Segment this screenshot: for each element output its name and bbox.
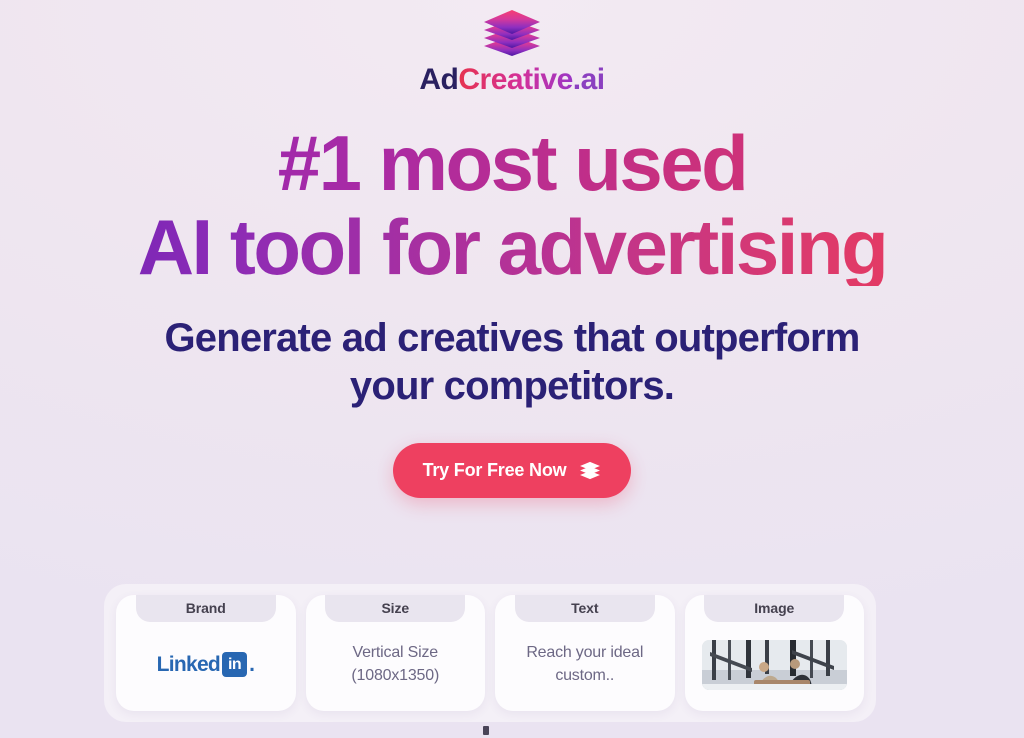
card-text[interactable]: Text Reach your ideal custom.. [495,595,675,711]
linkedin-badge: in [222,652,247,677]
office-photo-thumbnail [702,640,847,690]
logo-word-creative: Creative [458,63,572,96]
card-image-body [685,622,865,711]
site-logo[interactable]: AdCreative.ai [0,0,1024,95]
card-size-line-2: (1080x1350) [351,665,439,687]
creative-settings-strip: Brand Linked in . Size Vertical Size (10… [104,584,876,722]
card-brand-header: Brand [136,595,276,622]
card-image-header: Image [704,595,844,622]
stacked-layers-icon [481,6,543,62]
logo-word-ai: .ai [573,63,605,96]
cta-label: Try For Free Now [423,460,567,481]
headline-line-1: #1 most used [0,125,1024,201]
hero-subheadline: Generate ad creatives that outperform yo… [0,314,1024,410]
try-for-free-button[interactable]: Try For Free Now [393,443,632,498]
logo-wordmark: AdCreative.ai [419,65,604,95]
card-text-body: Reach your ideal custom.. [495,622,675,711]
card-size-body: Vertical Size (1080x1350) [306,622,486,711]
stacked-layers-icon [579,461,601,480]
cta-row: Try For Free Now [0,443,1024,498]
card-brand-body: Linked in . [116,622,296,711]
card-image[interactable]: Image [685,595,865,711]
card-size-line-1: Vertical Size [351,642,439,664]
subheadline-line-2: your competitors. [0,362,1024,410]
strip-scroll-marker[interactable] [483,726,489,735]
card-size-header: Size [325,595,465,622]
hero-headline: #1 most used AI tool for advertising [0,125,1024,286]
linkedin-dot: . [249,653,255,677]
card-brand[interactable]: Brand Linked in . [116,595,296,711]
subheadline-line-1: Generate ad creatives that outperform [0,314,1024,362]
linkedin-wordmark: Linked [157,653,220,677]
card-size[interactable]: Size Vertical Size (1080x1350) [306,595,486,711]
card-text-line-1: Reach your ideal [526,642,643,664]
headline-line-2: AI tool for advertising [0,209,1024,285]
logo-word-ad: Ad [419,63,458,96]
card-text-line-2: custom.. [526,665,643,687]
linkedin-logo: Linked in . [157,652,255,677]
card-text-header: Text [515,595,655,622]
